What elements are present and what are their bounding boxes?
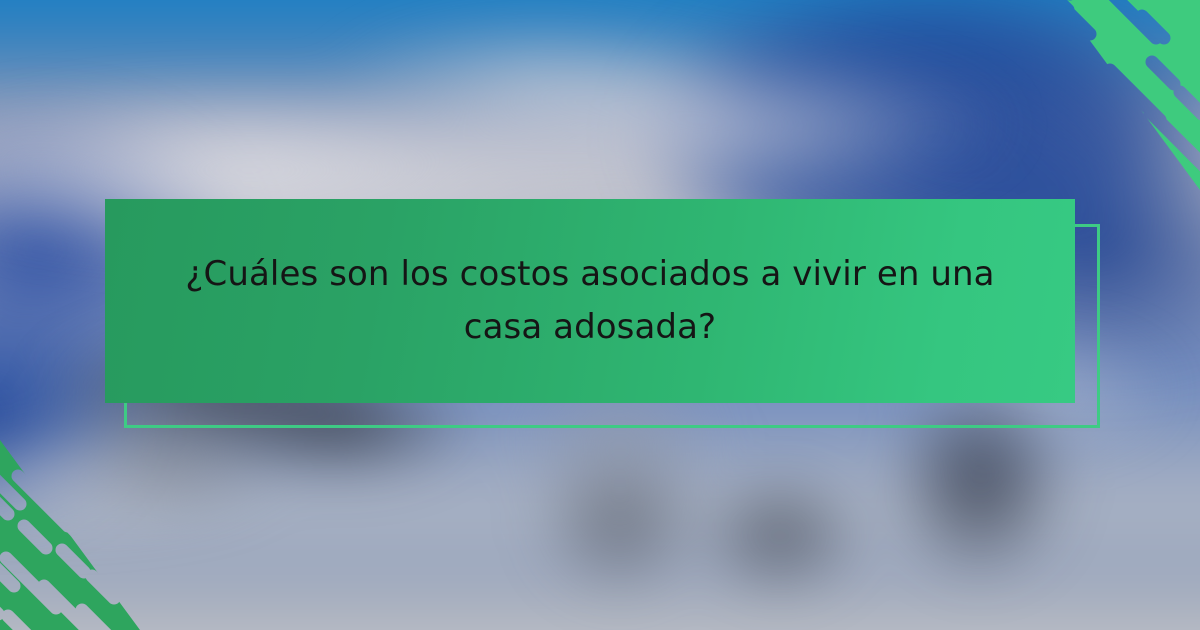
social-share-card: ¿Cuáles son los costos asociados a vivir… — [0, 0, 1200, 630]
headline-card: ¿Cuáles son los costos asociados a vivir… — [105, 199, 1075, 403]
page-title: ¿Cuáles son los costos asociados a vivir… — [165, 248, 1015, 353]
